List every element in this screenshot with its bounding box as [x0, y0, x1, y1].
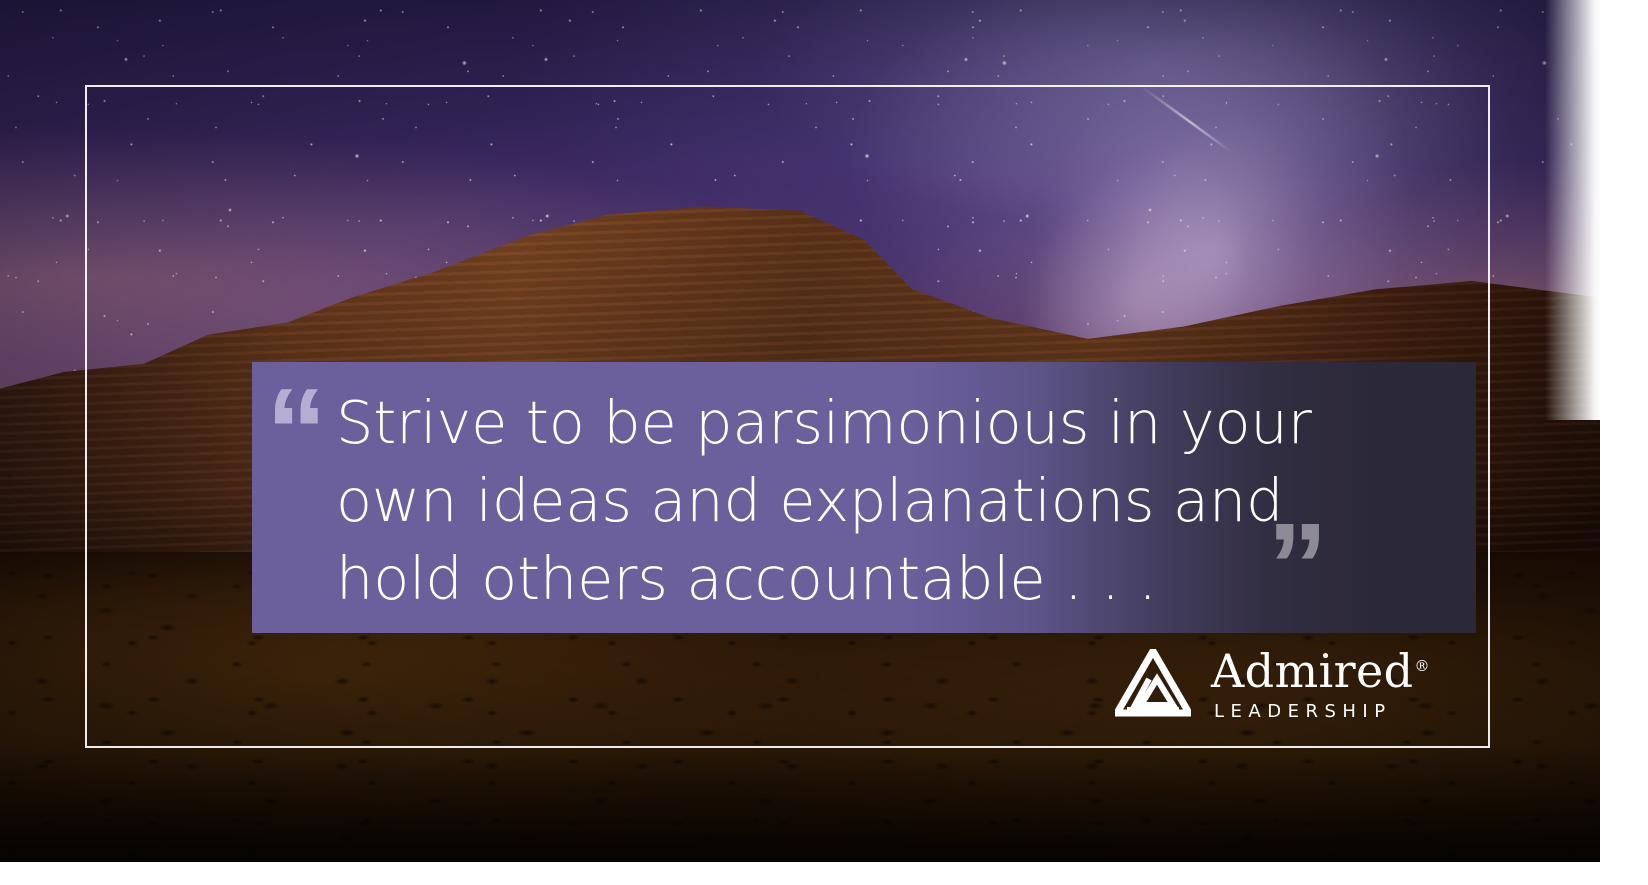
right-page-margin	[1600, 0, 1648, 885]
quote-card-canvas: “ Strive to be parsimonious in your own …	[0, 0, 1648, 885]
quote-text: Strive to be parsimonious in your own id…	[336, 384, 1386, 618]
opening-quote-mark-icon: “	[266, 370, 325, 492]
brand-name: Admired®	[1211, 648, 1430, 695]
brand-logo: Admired® LEADERSHIP	[1115, 648, 1430, 722]
closing-quote-mark-icon: ”	[1267, 505, 1326, 627]
brand-name-text: Admired	[1211, 644, 1413, 698]
triangle-a-logomark-icon	[1115, 649, 1191, 721]
bottom-page-margin	[0, 862, 1648, 885]
right-margin-fade	[1545, 0, 1601, 420]
registered-trademark-icon: ®	[1414, 657, 1429, 675]
brand-tagline: LEADERSHIP	[1211, 701, 1430, 722]
quote-banner: “ Strive to be parsimonious in your own …	[252, 362, 1476, 633]
brand-wordmark: Admired® LEADERSHIP	[1211, 648, 1430, 722]
